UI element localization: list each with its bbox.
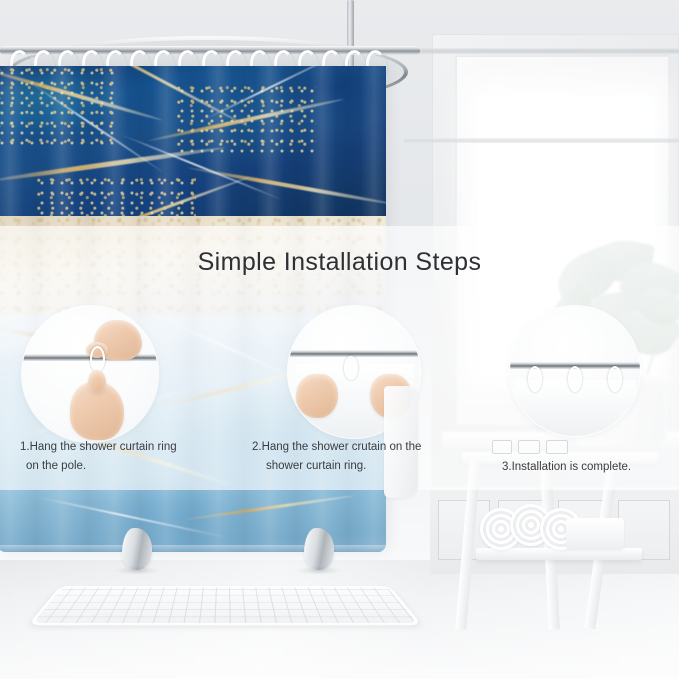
step-1-caption: 1.Hang the shower curtain ring on the po… xyxy=(20,438,230,476)
curtain-zone-navy-marble xyxy=(0,66,386,234)
step-3-caption: 3.Installation is complete. xyxy=(502,458,679,477)
gold-flecks xyxy=(0,66,116,146)
step-2-caption: 2.Hang the shower crutain on the shower … xyxy=(252,438,472,476)
gold-vein xyxy=(187,494,356,521)
clawfoot-shadow xyxy=(114,566,160,575)
step-3-illustration xyxy=(510,306,640,436)
step-3-curtain-ring xyxy=(608,366,622,392)
step-2-curtain-ring xyxy=(344,356,358,380)
overlay-title: Simple Installation Steps xyxy=(0,248,679,277)
clawfoot-tub-foot xyxy=(304,528,334,570)
step-2-left-hand xyxy=(296,374,338,418)
clawfoot-shadow xyxy=(296,566,342,575)
step-1-caption-line1: 1.Hang the shower curtain ring xyxy=(20,438,230,457)
step-1-curtain-ring xyxy=(90,346,105,372)
step-1-illustration xyxy=(22,306,158,442)
towel-folded xyxy=(566,518,624,550)
clawfoot-tub-foot xyxy=(122,528,152,570)
wall-tile xyxy=(546,440,568,454)
product-lifestyle-scene: Simple Installation Steps 1.Hang the sho… xyxy=(0,0,679,679)
step-1-lower-thumb xyxy=(88,370,106,394)
step-2-caption-line1: 2.Hang the shower crutain on the xyxy=(252,438,472,457)
bath-mat xyxy=(28,586,423,625)
step-3-caption-line1: 3.Installation is complete. xyxy=(502,458,679,477)
shower-rod-rear-segment xyxy=(404,48,679,54)
step-3-curtain-ring xyxy=(528,366,542,392)
wall-tile xyxy=(492,440,512,454)
step-3-curtain-ring xyxy=(568,366,582,392)
shower-rod-rear-segment xyxy=(404,138,679,143)
step-2-caption-line2: shower curtain ring. xyxy=(252,457,472,476)
step-1-caption-line2: on the pole. xyxy=(20,457,230,476)
wall-tile xyxy=(518,440,540,454)
gold-flecks xyxy=(176,84,316,154)
step-2-rod xyxy=(288,350,420,357)
